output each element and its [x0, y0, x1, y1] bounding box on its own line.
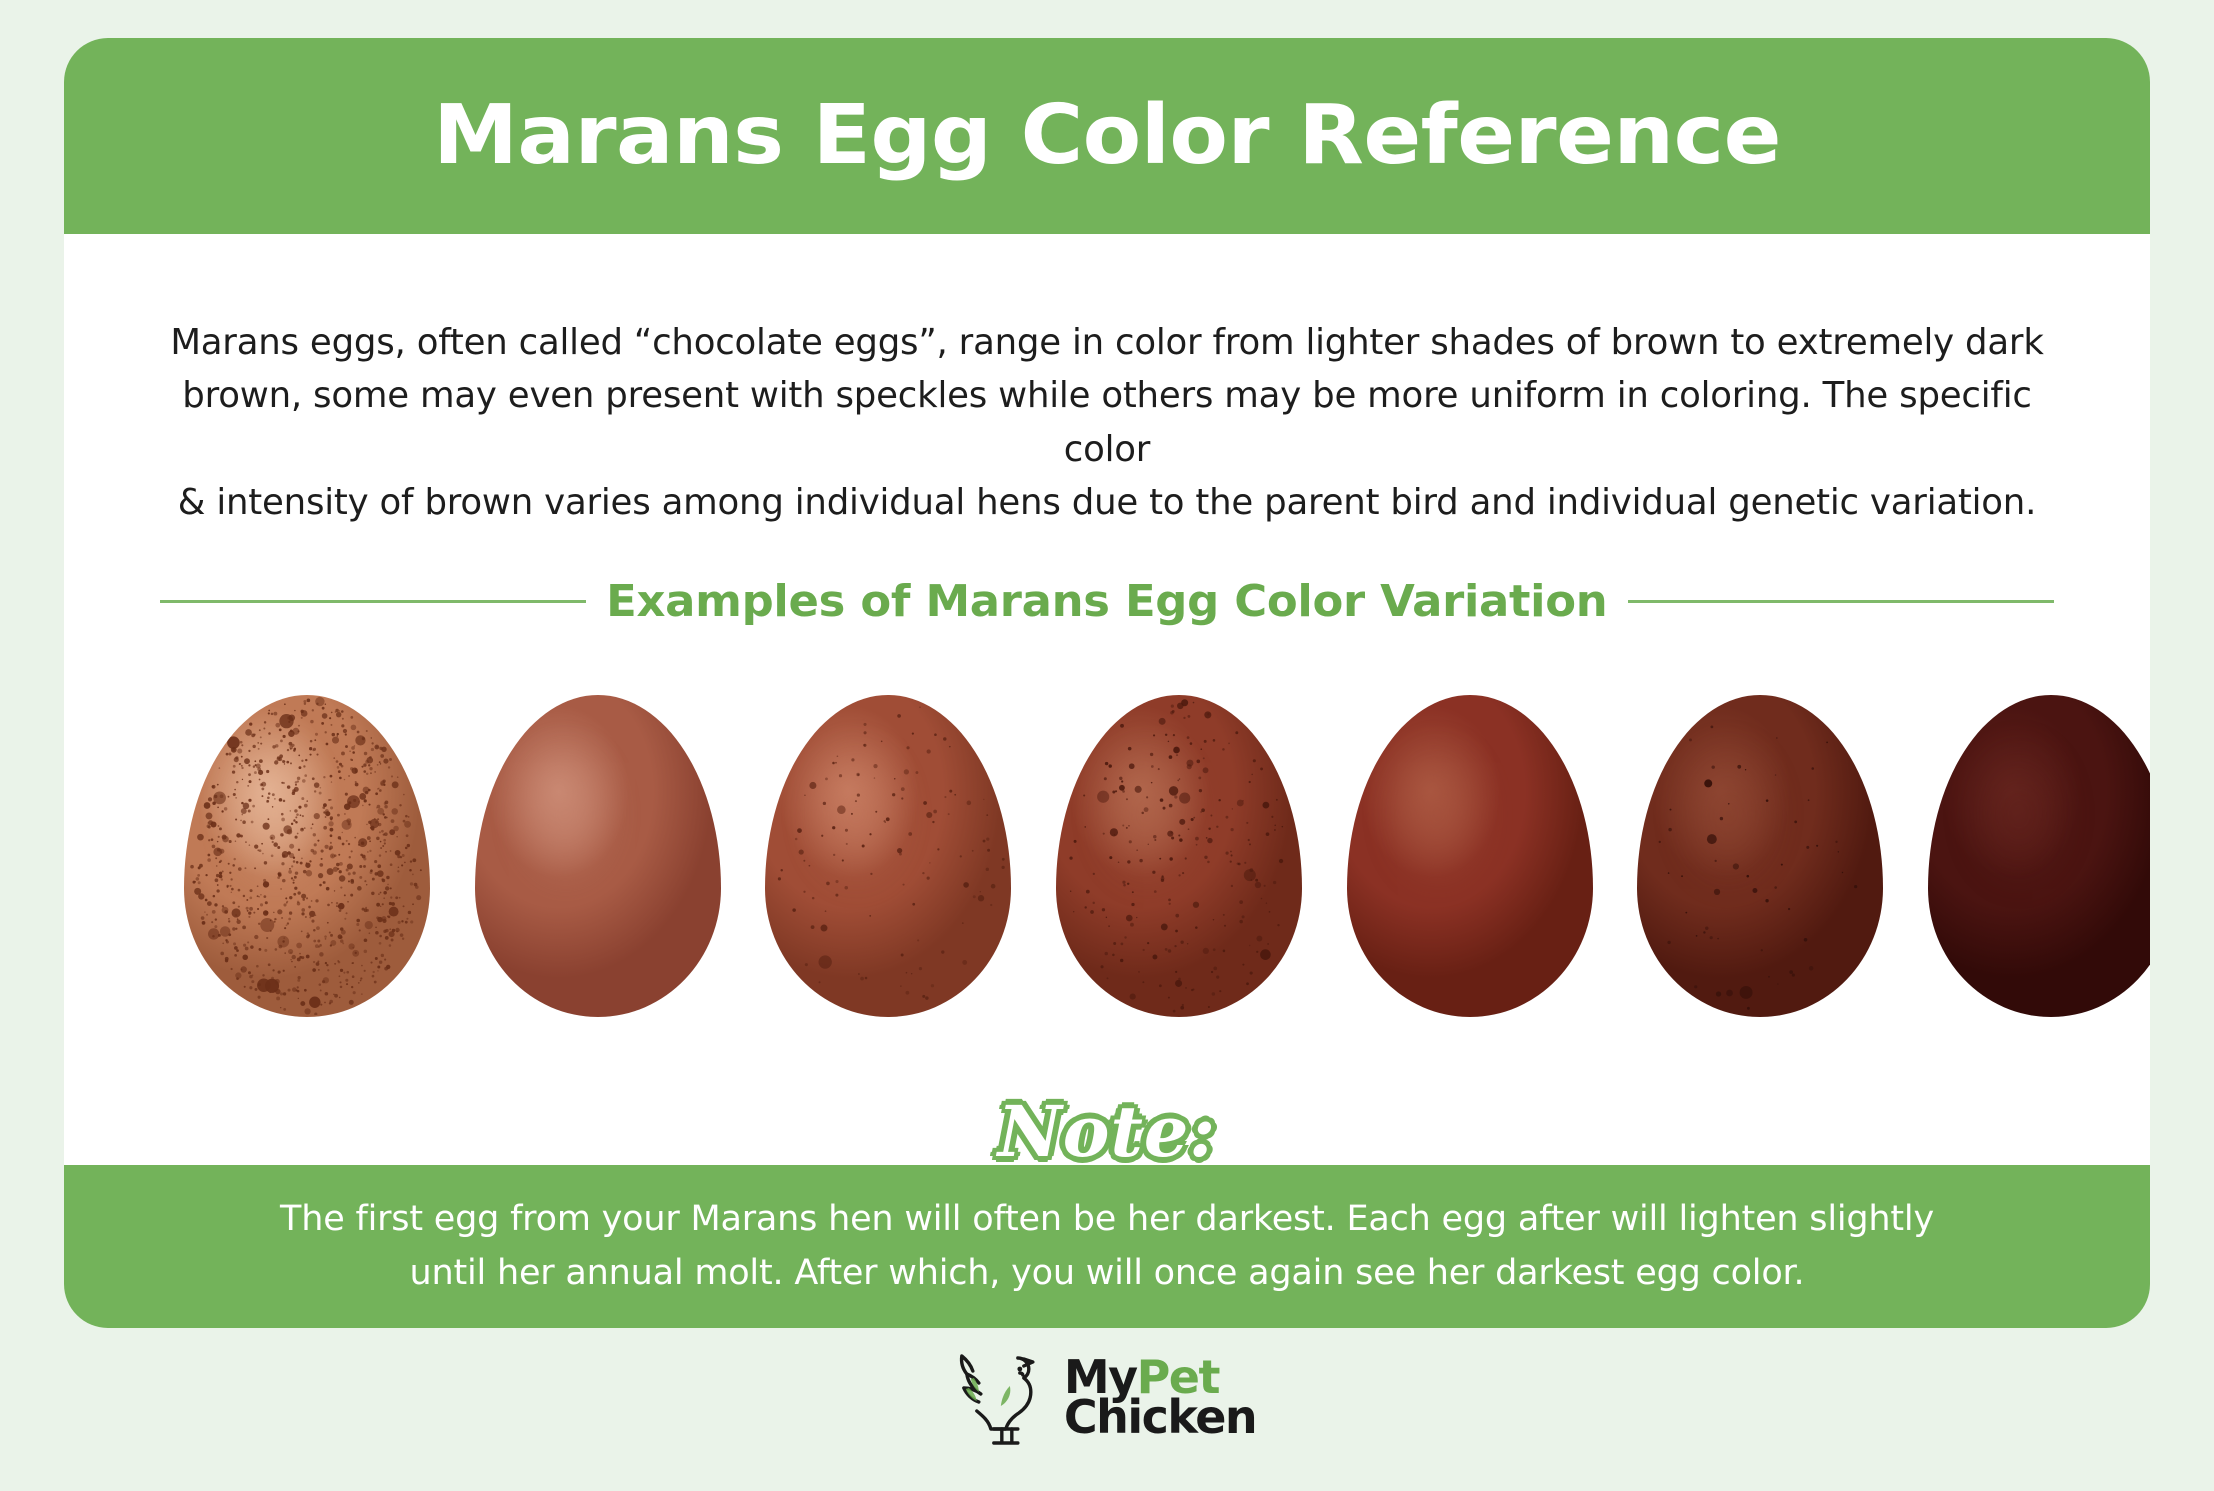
logo-word-chicken: Chicken — [1064, 1397, 1256, 1437]
egg-speckles — [1056, 695, 1302, 1015]
egg-1-light-speckled — [184, 695, 430, 1017]
note-label: Note: — [998, 1090, 1216, 1173]
egg-5-dark-smooth — [1347, 695, 1593, 1017]
egg-shape — [1056, 695, 1302, 1017]
egg-speckles — [765, 695, 1011, 1015]
egg-7-darkest — [1928, 695, 2150, 1017]
logo-wordmark: MyPet Chicken — [1064, 1357, 1256, 1438]
intro-line-2: brown, some may even present with speckl… — [142, 369, 2072, 476]
section-heading-row: Examples of Marans Egg Color Variation — [160, 576, 2054, 627]
note-line-1: The first egg from your Marans hen will … — [227, 1193, 1987, 1246]
egg-speckles — [184, 695, 430, 1015]
infographic-poster: Marans Egg Color Reference Marans eggs, … — [0, 0, 2214, 1491]
egg-highlight — [514, 740, 617, 888]
egg-shape — [1928, 695, 2150, 1017]
intro-line-3: & intensity of brown varies among indivi… — [142, 476, 2072, 529]
egg-speckles — [1637, 695, 1883, 1015]
note-banner: The first egg from your Marans hen will … — [64, 1165, 2150, 1328]
brand-logo: MyPet Chicken — [958, 1342, 1256, 1452]
divider-left — [160, 600, 586, 603]
content-card: Marans Egg Color Reference Marans eggs, … — [64, 38, 2150, 1328]
egg-shape — [765, 695, 1011, 1017]
egg-color-swatch-row — [184, 690, 2150, 1022]
page-title: Marans Egg Color Reference — [433, 95, 1781, 177]
egg-shape — [1347, 695, 1593, 1017]
header-banner: Marans Egg Color Reference — [64, 38, 2150, 234]
divider-right — [1628, 600, 2054, 603]
egg-shape — [1637, 695, 1883, 1017]
egg-highlight — [1967, 740, 2070, 888]
hen-icon — [958, 1342, 1054, 1452]
intro-paragraph: Marans eggs, often called “chocolate egg… — [142, 316, 2072, 529]
note-line-2: until her annual molt. After which, you … — [227, 1247, 1987, 1300]
note-text: The first egg from your Marans hen will … — [227, 1193, 1987, 1299]
egg-shape — [184, 695, 430, 1017]
egg-4-dark-speckled — [1056, 695, 1302, 1017]
intro-line-1: Marans eggs, often called “chocolate egg… — [142, 316, 2072, 369]
section-heading: Examples of Marans Egg Color Variation — [606, 576, 1607, 627]
egg-2-medium-smooth — [475, 695, 721, 1017]
egg-6-very-dark-speckled — [1637, 695, 1883, 1017]
egg-shape — [475, 695, 721, 1017]
egg-3-medium-speckled — [765, 695, 1011, 1017]
egg-highlight — [1386, 740, 1489, 888]
